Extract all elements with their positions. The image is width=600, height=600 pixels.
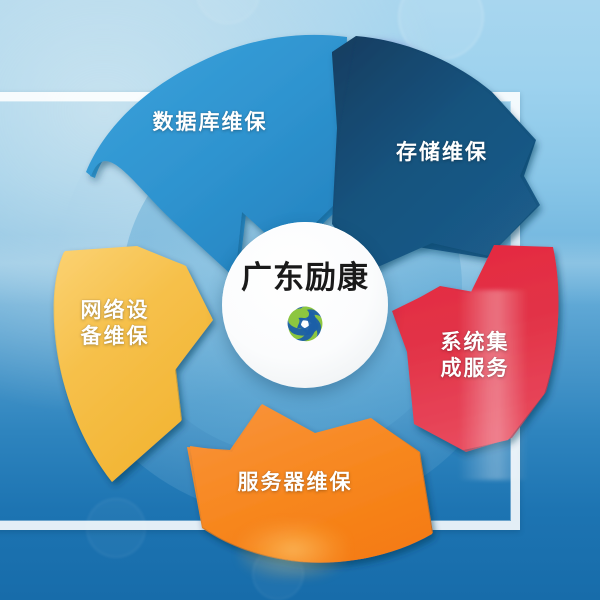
segment-petal-storage-shape[interactable]: [334, 37, 537, 270]
pinwheel-flower-logo-icon: [282, 301, 328, 347]
segment-petal-network-shape[interactable]: [55, 246, 213, 482]
lens-flare-streak-icon: [458, 290, 528, 480]
lens-flare-warm-icon: [238, 520, 348, 580]
service-wheel-graphic: 数据库维保 存储维保 系统集 成服务 服务器维保 网络设 备维保 广东励康: [0, 0, 600, 600]
center-brand-disc[interactable]: 广东励康: [222, 222, 388, 388]
company-name: 广东励康: [241, 263, 369, 294]
